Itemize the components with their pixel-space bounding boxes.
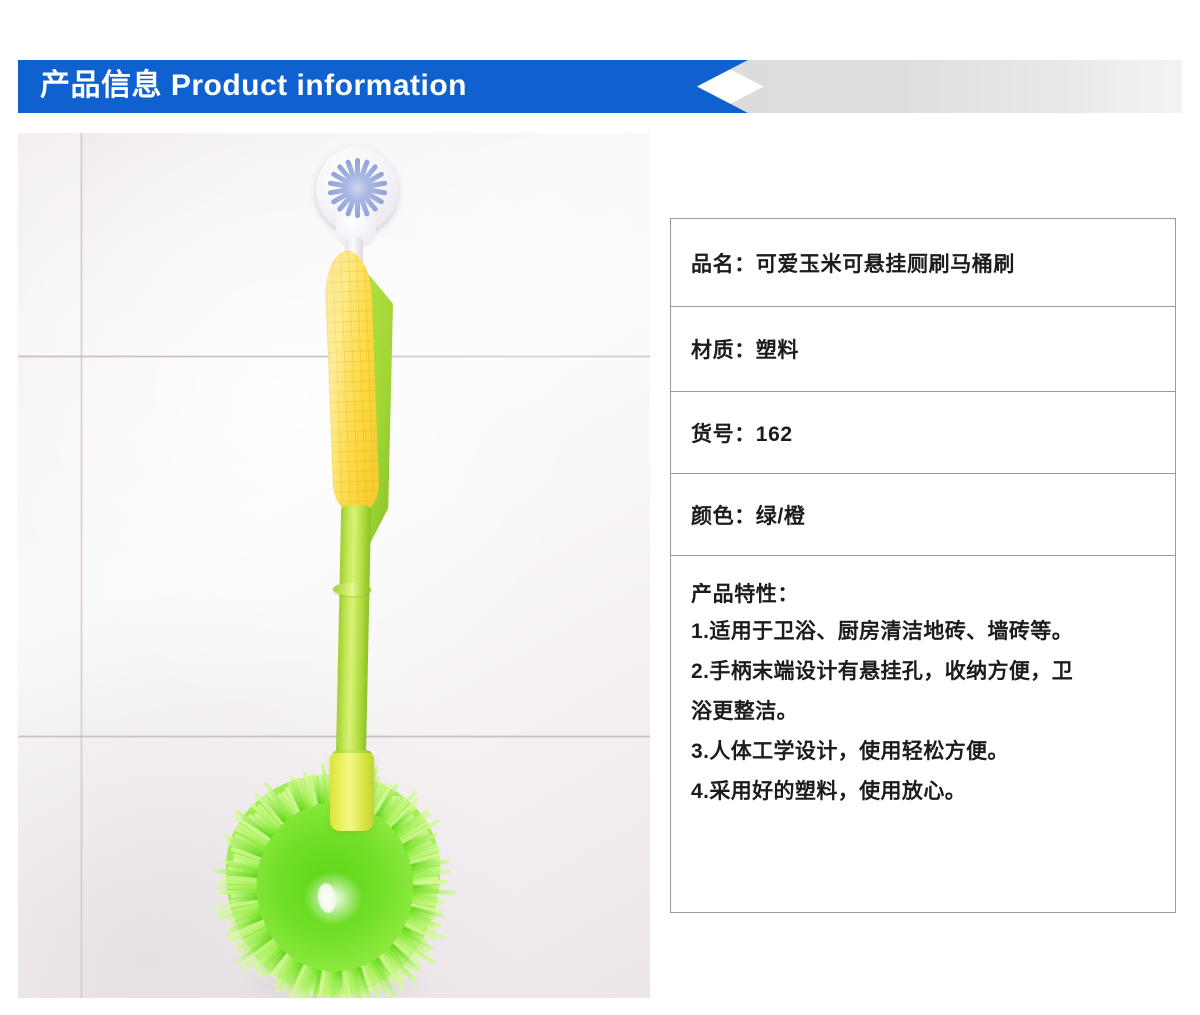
table-row: 材质：塑料 [671,307,1175,392]
section-header-banner: 产品信息 Product information [18,60,1182,113]
table-row: 品名：可爱玉米可悬挂厕刷马桶刷 [671,219,1175,307]
feature-item: 1.适用于卫浴、厨房清洁地砖、墙砖等。 [691,621,1155,642]
toilet-brush-product [18,133,650,998]
product-information-page: 产品信息 Product information [0,0,1200,1015]
spec-color: 颜色：绿/橙 [691,500,805,530]
feature-item-continuation: 浴更整洁。 [691,701,1155,722]
specification-table: 品名：可爱玉米可悬挂厕刷马桶刷 材质：塑料 货号：162 颜色：绿/橙 产品特性… [670,218,1176,913]
features-heading: 产品特性： [691,578,1155,608]
brush-bristle [215,885,257,889]
spec-item-number: 货号：162 [691,418,793,448]
flower-icon [326,157,388,219]
table-row: 颜色：绿/橙 [671,474,1175,556]
spec-product-name: 品名：可爱玉米可悬挂厕刷马桶刷 [691,248,1015,278]
spec-material: 材质：塑料 [691,334,799,364]
product-photo [18,133,650,998]
feature-item: 2.手柄末端设计有悬挂孔，收纳方便，卫 [691,661,1155,682]
table-row: 货号：162 [671,392,1175,474]
feature-item: 4.采用好的塑料，使用放心。 [691,781,1155,802]
banner-tail-bar [712,60,1182,113]
feature-item: 3.人体工学设计，使用轻松方便。 [691,741,1155,762]
brush-head-connector [330,753,374,831]
brush-bristle [335,971,340,998]
product-features-block: 产品特性： 1.适用于卫浴、厨房清洁地砖、墙砖等。 2.手柄末端设计有悬挂孔，收… [671,556,1175,802]
page-title: 产品信息 Product information [40,60,467,113]
